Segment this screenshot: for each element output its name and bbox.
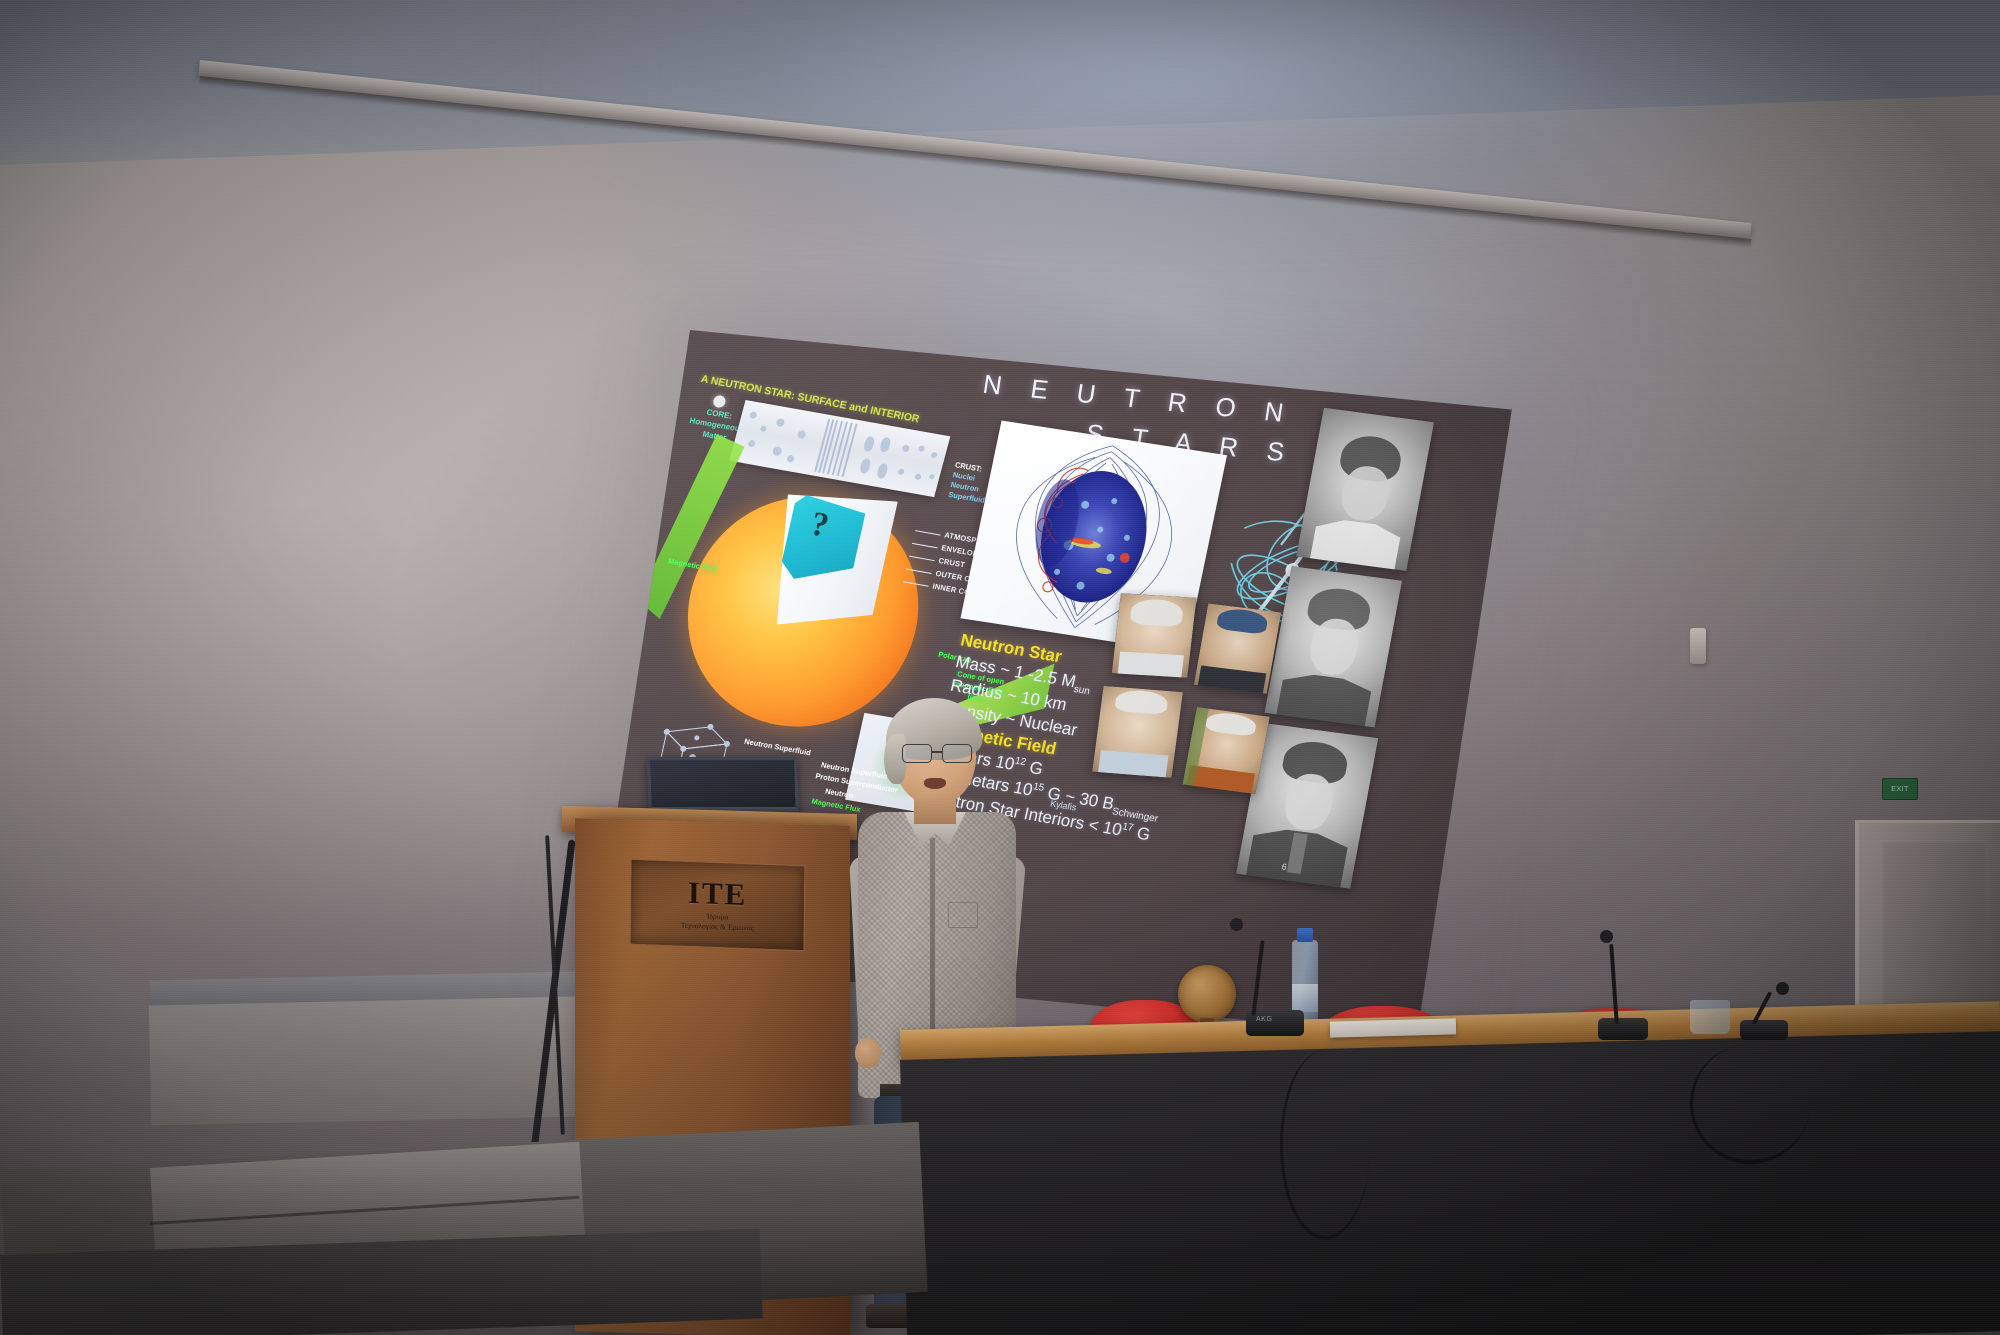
microphone-cable-drape xyxy=(1280,1050,1370,1240)
glasses-left-lens xyxy=(902,744,932,763)
speaker-left-hand xyxy=(855,1038,881,1068)
institute-plaque: ITE Ίδρυμα Τεχνολογίας & Έρευνας xyxy=(630,859,806,952)
drinking-glasses xyxy=(1690,1000,1730,1034)
water-bottle-cap xyxy=(1297,928,1313,942)
portrait-color-3 xyxy=(1092,686,1183,778)
speaker-mouth xyxy=(924,778,946,789)
microphone-base-3 xyxy=(1740,1020,1788,1040)
glasses-bridge xyxy=(932,751,943,753)
microphone-head-2 xyxy=(1600,930,1613,943)
lecture-hall-photo: EXIT N E U T R O N S T A R S A NEUTRON S… xyxy=(0,0,2000,1335)
portrait-color-2 xyxy=(1194,603,1281,693)
glasses-right-lens xyxy=(942,744,972,763)
microphone-base-2 xyxy=(1598,1018,1648,1040)
microphone-head-1 xyxy=(1230,918,1243,931)
speaker-glasses xyxy=(902,744,974,764)
institute-subtitle: Ίδρυμα Τεχνολογίας & Έρευνας xyxy=(681,910,754,933)
portrait-color-4 xyxy=(1183,707,1270,794)
panel-table-front xyxy=(900,1031,2000,1335)
papers-on-table[interactable] xyxy=(1330,1018,1456,1037)
fact-interiors-tail: G xyxy=(1130,823,1152,845)
neutron-superfluid-label: Neutron Superfluid xyxy=(743,737,811,758)
speaker-shirt-pocket xyxy=(948,902,978,928)
microphone-head-3 xyxy=(1776,982,1789,995)
microphone-brand-label: AKG xyxy=(1256,1016,1272,1023)
institute-subtitle-line2: Τεχνολογίας & Έρευνας xyxy=(681,921,754,934)
commemorative-medallion xyxy=(1178,965,1236,1023)
wall-sensor-icon xyxy=(1690,628,1706,664)
exit-sign-label: EXIT xyxy=(1891,786,1909,793)
microphone-cable-drape-2 xyxy=(1690,1044,1810,1164)
water-bottle-label xyxy=(1292,984,1318,1012)
portrait-color-1 xyxy=(1112,593,1197,677)
institute-acronym: ITE xyxy=(688,877,748,910)
core-marker-dot xyxy=(713,395,727,408)
fact-mass-sub: sun xyxy=(1073,684,1091,698)
fact-pulsars-tail: G xyxy=(1023,757,1045,779)
exit-sign: EXIT xyxy=(1882,778,1918,800)
